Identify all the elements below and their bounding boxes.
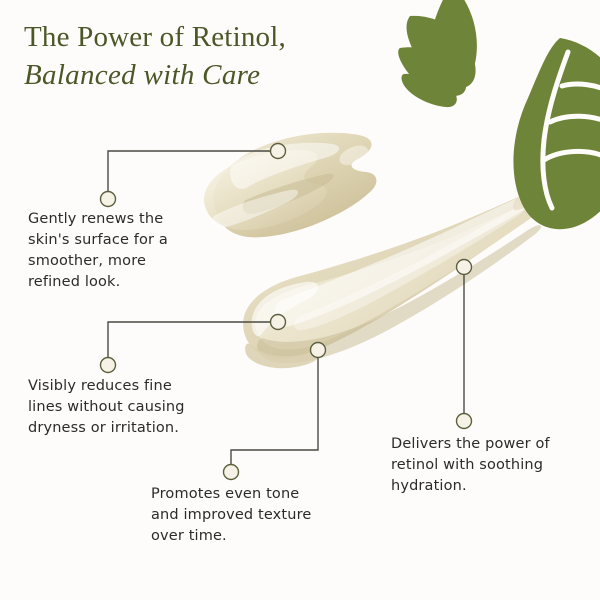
callout-text-promotes-even-tone: Promotes even tone and improved texture …: [151, 484, 331, 547]
callout-text-delivers-power: Delivers the power of retinol with sooth…: [391, 434, 586, 497]
callout-anchor-dot-1[interactable]: [271, 144, 286, 159]
infographic-canvas: The Power of Retinol, Balanced with Care…: [0, 0, 600, 600]
callout-marker-dot-3[interactable]: [224, 465, 239, 480]
connector-line-2: [108, 322, 278, 365]
callout-anchor-dot-4[interactable]: [457, 260, 472, 275]
callout-anchor-dot-3[interactable]: [311, 343, 326, 358]
callout-marker-dot-2[interactable]: [101, 358, 116, 373]
connector-line-3: [231, 350, 318, 472]
callout-text-gently-renews: Gently renews the skin's surface for a s…: [28, 209, 198, 293]
connector-line-1: [108, 151, 278, 199]
callout-marker-dot-4[interactable]: [457, 414, 472, 429]
callout-text-visibly-reduces: Visibly reduces fine lines without causi…: [28, 376, 208, 439]
callout-marker-dot-1[interactable]: [101, 192, 116, 207]
callout-anchor-dot-2[interactable]: [271, 315, 286, 330]
